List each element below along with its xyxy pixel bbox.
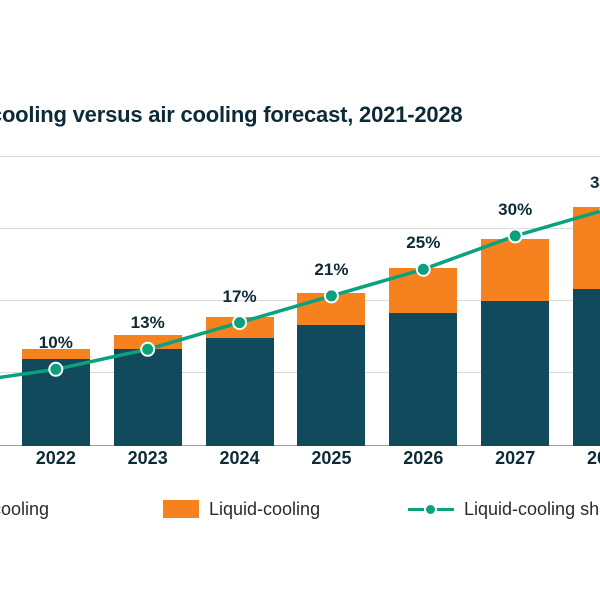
x-axis-tick: 2026	[377, 448, 469, 478]
legend-swatch-liquid-cooling	[163, 500, 199, 518]
x-axis-labels: 20212022202320242025202620272028	[0, 448, 600, 478]
legend-item-air-cooling: Air-cooling	[0, 499, 163, 520]
x-axis-tick: 2028	[561, 448, 600, 478]
legend-label-liquid-cooling: Liquid-cooling	[209, 499, 320, 520]
plot-area: 8%10%13%17%21%25%30%34%	[0, 156, 600, 446]
share-line-point[interactable]	[233, 316, 246, 329]
share-line-point[interactable]	[417, 263, 430, 276]
legend-label-air-cooling: Air-cooling	[0, 499, 49, 520]
x-axis-tick: 2025	[286, 448, 378, 478]
chart-title: Liquid-cooling versus air cooling foreca…	[0, 102, 600, 128]
x-axis-tick: 2027	[469, 448, 561, 478]
share-data-label: 34%	[590, 173, 600, 193]
share-line-point[interactable]	[325, 289, 338, 302]
chart-screenshot: Liquid-cooling versus air cooling foreca…	[0, 0, 600, 600]
share-line-point[interactable]	[141, 343, 154, 356]
legend-item-liquid-cooling-share: Liquid-cooling share	[408, 499, 600, 520]
legend-label-liquid-cooling-share: Liquid-cooling share	[464, 499, 600, 520]
legend-swatch-liquid-cooling-share	[408, 500, 454, 518]
x-axis-tick: 2023	[102, 448, 194, 478]
chart-legend: Air-cooling Liquid-cooling Liquid-coolin…	[0, 492, 600, 526]
x-axis-tick: 2024	[194, 448, 286, 478]
share-data-label: 17%	[223, 287, 257, 307]
share-data-label: 30%	[498, 200, 532, 220]
x-axis-tick: 2022	[10, 448, 102, 478]
x-axis-tick: 2021	[0, 448, 10, 478]
share-line-point[interactable]	[509, 229, 522, 242]
chart-canvas: Liquid-cooling versus air cooling foreca…	[0, 30, 600, 560]
share-data-label: 13%	[131, 313, 165, 333]
share-line-point[interactable]	[49, 363, 62, 376]
share-data-label: 25%	[406, 233, 440, 253]
share-data-label: 10%	[39, 333, 73, 353]
legend-item-liquid-cooling: Liquid-cooling	[163, 499, 408, 520]
share-data-label: 21%	[314, 260, 348, 280]
